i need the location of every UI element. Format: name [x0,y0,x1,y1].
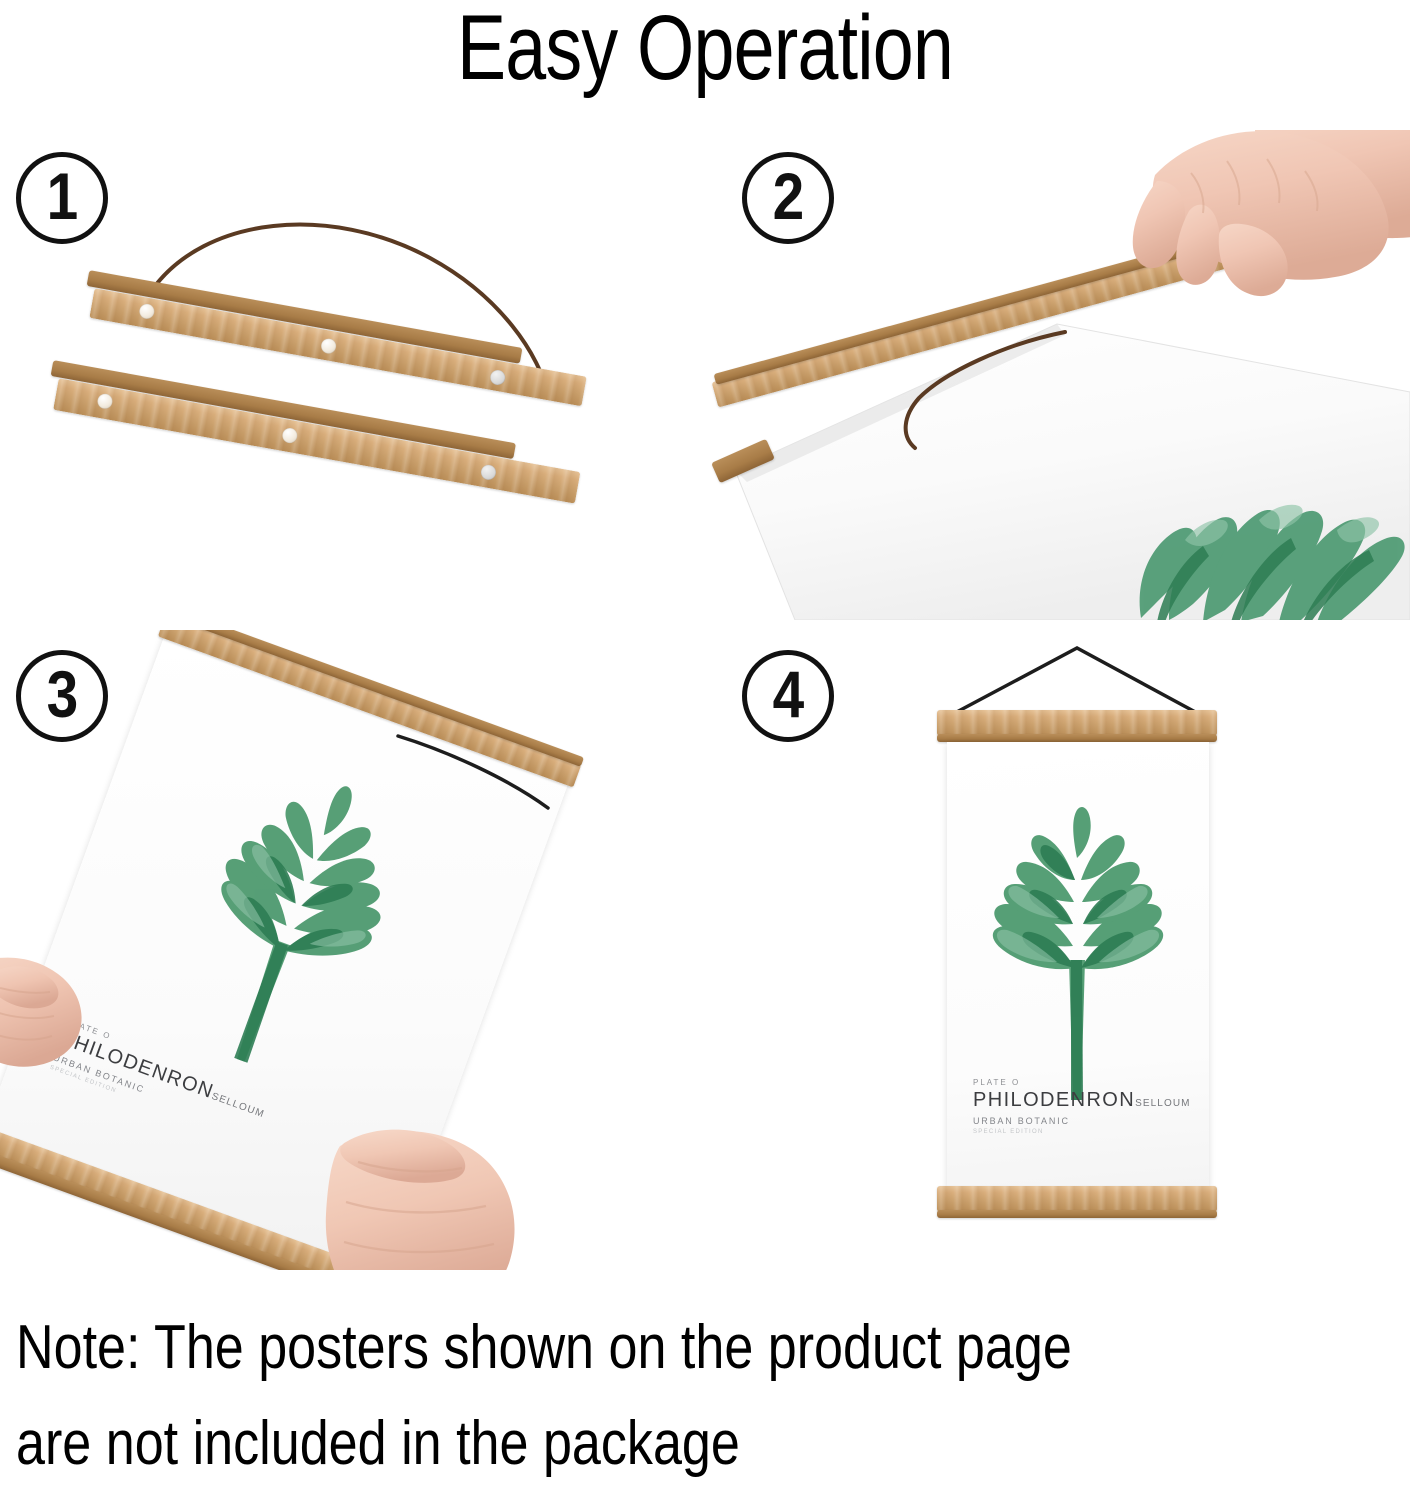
step-badge-1: 1 [16,152,108,244]
step-badge-4-number: 4 [772,661,804,727]
caption-plate: PLATE O [973,1078,1191,1088]
top-rail-step4 [937,710,1217,736]
step-badge-3: 3 [16,650,108,742]
note-line-2: are not included in the package [16,1396,1184,1492]
infographic-page: Easy Operation [0,0,1410,1497]
bottom-rail-step4 [937,1186,1217,1212]
step-badge-1-number: 1 [46,163,78,229]
step-3-illustration: PLATE O PHILODENRONSELLOUM URBAN BOTANIC… [0,630,705,1270]
step-badge-3-number: 3 [46,661,78,727]
step-badge-2: 2 [742,152,834,244]
hand-holding-rail [1005,130,1410,405]
page-title: Easy Operation [141,0,1269,101]
left-hand-step3 [0,926,170,1126]
caption-publisher: URBAN BOTANIC [973,1116,1191,1127]
right-hand-step3 [300,1110,560,1270]
poster-caption-step4: PLATE O PHILODENRONSELLOUM URBAN BOTANIC… [973,1078,1191,1137]
step-badge-4: 4 [742,650,834,742]
top-rail-edge-step4 [937,734,1217,742]
step-badge-2-number: 2 [772,163,804,229]
caption-species-name: PHILODENRON [973,1089,1135,1111]
note-line-1: Note: The posters shown on the product p… [16,1300,1184,1396]
caption-species: PHILODENRONSELLOUM [973,1088,1191,1113]
leaf-artwork-step4 [963,800,1195,1100]
disclaimer-note: Note: The posters shown on the product p… [16,1300,1406,1492]
caption-species-variety: SELLOUM [1135,1098,1191,1109]
bottom-rail-edge-step4 [937,1210,1217,1218]
caption-edition: SPECIAL EDITION [973,1129,1191,1137]
